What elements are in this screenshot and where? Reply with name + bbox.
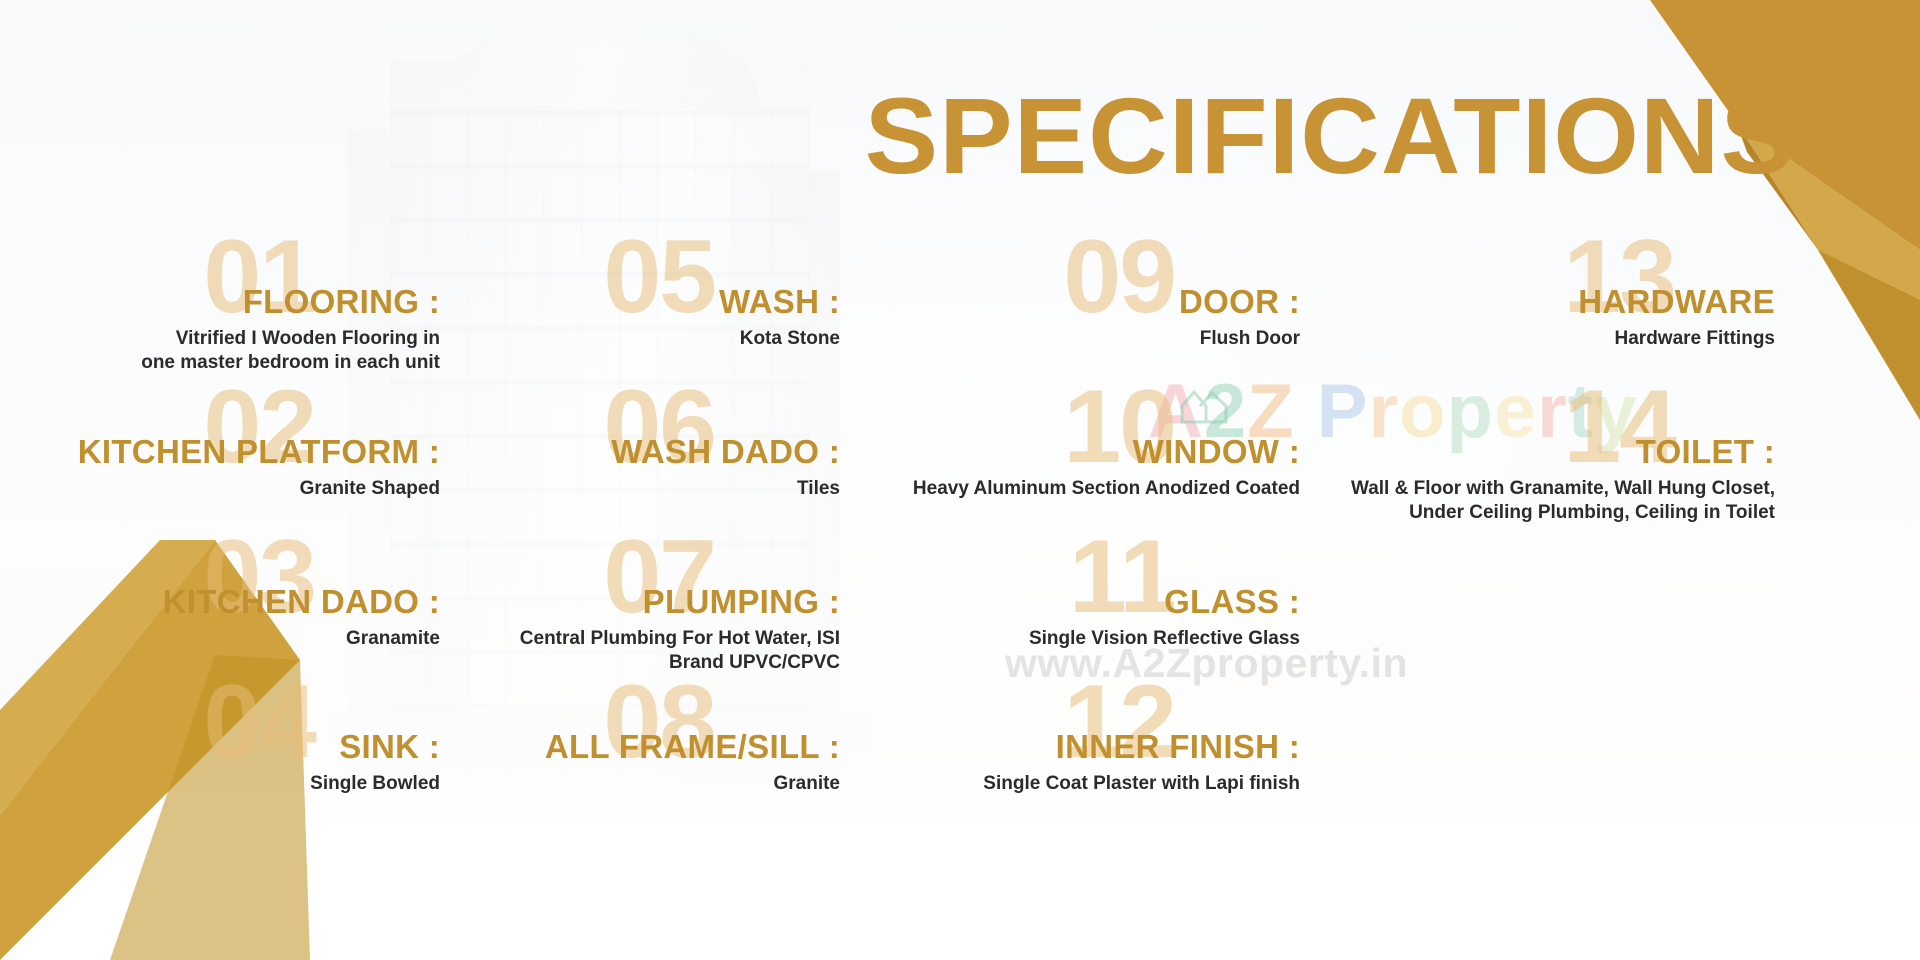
spec-description: Granite Shaped [20, 477, 440, 501]
spec-description: Kota Stone [420, 327, 840, 351]
spec-label: SINK : [20, 730, 440, 764]
spec-description: Vitrified I Wooden Flooring in one maste… [20, 327, 440, 376]
spec-label: KITCHEN PLATFORM : [20, 435, 440, 469]
spec-item-03: 03 KITCHEN DADO : Granamite [20, 585, 440, 651]
foreground-haze [0, 790, 1920, 960]
spec-item-10: 10 WINDOW : Heavy Aluminum Section Anodi… [840, 435, 1300, 501]
spec-item-11: 11 GLASS : Single Vision Reflective Glas… [840, 585, 1300, 651]
spec-description: Single Coat Plaster with Lapi finish [840, 772, 1300, 796]
spec-label: HARDWARE [1300, 285, 1775, 319]
spec-label: WINDOW : [840, 435, 1300, 469]
spec-item-12: 12 INNER FINISH : Single Coat Plaster wi… [840, 730, 1300, 796]
specifications-poster: SPECIFICATIONS A2Z Property www.A2Zprope… [0, 0, 1920, 960]
spec-description: Central Plumbing For Hot Water, ISI Bran… [420, 627, 840, 676]
spec-description: Granamite [20, 627, 440, 651]
spec-description: Single Vision Reflective Glass [840, 627, 1300, 651]
spec-description: Hardware Fittings [1300, 327, 1775, 351]
spec-label: KITCHEN DADO : [20, 585, 440, 619]
spec-description: Granite [420, 772, 840, 796]
spec-label: DOOR : [840, 285, 1300, 319]
spec-label: PLUMPING : [420, 585, 840, 619]
spec-label: WASH DADO : [420, 435, 840, 469]
spec-description: Flush Door [840, 327, 1300, 351]
spec-item-02: 02 KITCHEN PLATFORM : Granite Shaped [20, 435, 440, 501]
spec-item-01: 01 FLOORING : Vitrified I Wooden Floorin… [20, 285, 440, 375]
spec-item-06: 06 WASH DADO : Tiles [420, 435, 840, 501]
spec-label: WASH : [420, 285, 840, 319]
spec-description: Heavy Aluminum Section Anodized Coated [840, 477, 1300, 501]
spec-item-14: 14 TOILET : Wall & Floor with Granamite,… [1300, 435, 1775, 525]
spec-label: GLASS : [840, 585, 1300, 619]
spec-item-13: 13 HARDWARE Hardware Fittings [1300, 285, 1775, 351]
spec-label: ALL FRAME/SILL : [420, 730, 840, 764]
spec-label: INNER FINISH : [840, 730, 1300, 764]
spec-item-07: 07 PLUMPING : Central Plumbing For Hot W… [420, 585, 840, 675]
spec-item-04: 04 SINK : Single Bowled [20, 730, 440, 796]
page-title: SPECIFICATIONS [0, 82, 1795, 190]
gold-corner-top-right-decoration [1500, 0, 1920, 420]
spec-item-05: 05 WASH : Kota Stone [420, 285, 840, 351]
house-icon [1178, 380, 1232, 426]
spec-label: TOILET : [1300, 435, 1775, 469]
spec-item-08: 08 ALL FRAME/SILL : Granite [420, 730, 840, 796]
spec-label: FLOORING : [20, 285, 440, 319]
spec-description: Single Bowled [20, 772, 440, 796]
spec-item-09: 09 DOOR : Flush Door [840, 285, 1300, 351]
spec-description: Tiles [420, 477, 840, 501]
spec-description: Wall & Floor with Granamite, Wall Hung C… [1300, 477, 1775, 526]
